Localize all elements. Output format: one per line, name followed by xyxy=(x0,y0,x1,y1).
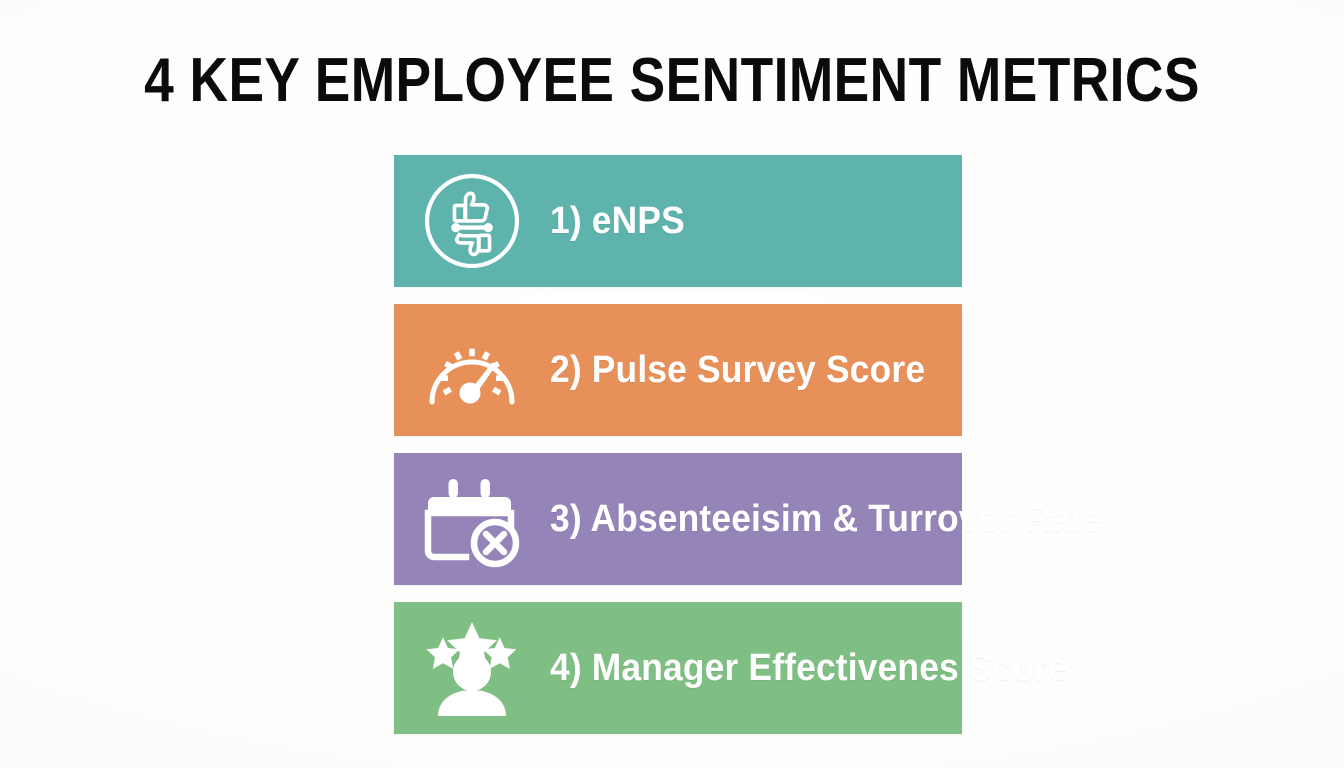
thumbs-up-down-circle-icon xyxy=(416,166,528,276)
infographic-canvas: 4 KEY EMPLOYEE SENTIMENT METRICS xyxy=(0,0,1344,768)
calendar-x-icon xyxy=(416,464,528,574)
metric-label-pulse-survey-score: 2) Pulse Survey Score xyxy=(550,348,925,392)
metric-row-enps[interactable]: 1) eNPS xyxy=(394,155,962,287)
metric-label-enps: 1) eNPS xyxy=(550,199,685,243)
metric-row-manager-effectiveness-score[interactable]: 4) Manager Effectivenes Score xyxy=(394,602,962,734)
metrics-list: 1) eNPS xyxy=(394,155,962,734)
gauge-icon xyxy=(416,315,528,425)
metric-row-absenteeism-turnover-rate[interactable]: 3) Absenteeisim & Turrovor Rate xyxy=(394,453,962,585)
metric-label-manager-effectiveness-score: 4) Manager Effectivenes Score xyxy=(550,646,1068,690)
metric-label-absenteeism-turnover-rate: 3) Absenteeisim & Turrovor Rate xyxy=(550,497,1102,541)
page-title: 4 KEY EMPLOYEE SENTIMENT METRICS xyxy=(94,44,1250,118)
person-stars-icon xyxy=(416,613,528,723)
metric-row-pulse-survey-score[interactable]: 2) Pulse Survey Score xyxy=(394,304,962,436)
